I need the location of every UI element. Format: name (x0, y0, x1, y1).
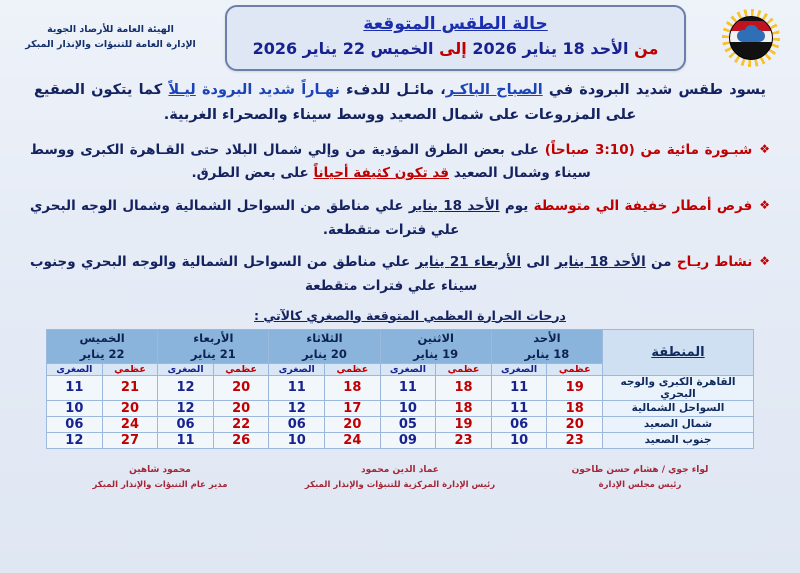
subheader-max-1: عظمي (436, 363, 492, 375)
row-1-day-1-min: 10 (380, 400, 436, 416)
row-0-day-3-min: 12 (158, 375, 214, 400)
day-1-name: الاثنين (381, 330, 491, 347)
temperature-table: المنطقة الأحد 18 يناير الاثنين 19 يناير … (46, 329, 754, 449)
signature-1-role: رئيس الإدارة المركزية للتنبؤات والإنذار … (280, 478, 520, 492)
page-header: حالة الطقس المتوقعة من الأحد 18 يناير 20… (0, 0, 800, 70)
row-1-day-4-min: 10 (47, 400, 103, 416)
signature-0-role: رئيس مجلس الإدارة (520, 478, 760, 492)
bullet-1-seg-2: على بعض الطرق المؤدية من وإلي شمال البلا… (30, 142, 591, 182)
row-1-day-0-max: 18 (547, 400, 603, 416)
date-from: الأحد 18 يناير 2026 (472, 39, 628, 58)
bullet-text-rain: فرص أمطار خفيفة الي متوسطة يوم الأحد 18 … (30, 195, 752, 242)
page-footer: لواء جوي / هشام حسن طاحون رئيس مجلس الإد… (0, 449, 800, 493)
row-1-day-3-max: 20 (213, 400, 269, 416)
bullet-text-fog: شبـورة مائية من (3:10 صباحاً) على بعض ال… (30, 139, 752, 186)
table-header-row-days: المنطقة الأحد 18 يناير الاثنين 19 يناير … (47, 329, 754, 363)
row-3-day-1-max: 23 (436, 432, 492, 448)
row-1-day-2-max: 17 (325, 400, 381, 416)
bullet-3-seg-4: الى (526, 254, 549, 270)
list-item: ❖ نشاط ريـاح من الأحد 18 يناير الى الأرب… (30, 251, 770, 298)
row-0-day-1-max: 18 (436, 375, 492, 400)
org-line-1: الهيئة العامة للأرصاد الجوية (18, 23, 203, 38)
intro-seg-4: نهـاراً (301, 82, 340, 98)
row-0-region: القاهرة الكبرى والوجه البحري (603, 375, 754, 400)
day-4-name: الخميس (47, 330, 157, 347)
day-2-date: 20 يناير (269, 346, 379, 363)
row-1-day-2-min: 12 (269, 400, 325, 416)
column-header-day-3: الأربعاء 21 يناير (158, 329, 269, 363)
flag-band-black (730, 42, 772, 55)
row-1-day-0-min: 11 (491, 400, 547, 416)
bullet-3-seg-6: علي مناطق من السواحل الشمالية والوجه الب… (30, 254, 477, 294)
bullet-2-seg-1: فرص أمطار خفيفة الي متوسطة (534, 198, 753, 214)
row-3-day-0-max: 23 (547, 432, 603, 448)
row-3-day-1-min: 09 (380, 432, 436, 448)
row-3-day-2-min: 10 (269, 432, 325, 448)
row-3-day-0-min: 10 (491, 432, 547, 448)
temperature-table-wrapper: المنطقة الأحد 18 يناير الاثنين 19 يناير … (0, 329, 800, 449)
row-0-day-2-max: 18 (325, 375, 381, 400)
row-1-region: السواحل الشمالية (603, 400, 754, 416)
signature-0-name: لواء جوي / هشام حسن طاحون (520, 463, 760, 478)
row-3-day-3-min: 11 (158, 432, 214, 448)
row-0-day-3-max: 20 (213, 375, 269, 400)
bullet-1-seg-3: قد تكون كثيفة أحياناً (313, 165, 449, 181)
row-3-day-4-max: 27 (102, 432, 158, 448)
row-0-day-0-min: 11 (491, 375, 547, 400)
subheader-max-2: عظمي (325, 363, 381, 375)
row-2-day-3-max: 22 (213, 416, 269, 432)
row-2-day-0-min: 06 (491, 416, 547, 432)
signature-1-name: عماد الدين محمود (280, 463, 520, 478)
bullet-diamond-icon: ❖ (759, 139, 770, 159)
table-row: شمال الصعيد 20 06 19 05 20 06 22 06 24 0… (47, 416, 754, 432)
row-0-day-4-min: 11 (47, 375, 103, 400)
title-box: حالة الطقس المتوقعة من الأحد 18 يناير 20… (225, 5, 687, 71)
page-title: حالة الطقس المتوقعة (253, 13, 659, 37)
subheader-min-3: الصغرى (158, 363, 214, 375)
row-2-region: شمال الصعيد (603, 416, 754, 432)
intro-seg-3: ، مائـل للدفء (346, 82, 446, 98)
signature-2-name: محمود شاهين (40, 463, 280, 478)
bullet-3-seg-1: نشاط ريـاح (677, 254, 752, 270)
row-1-day-4-max: 20 (102, 400, 158, 416)
signature-general-manager: محمود شاهين مدير عام التنبؤات والإنذار ا… (40, 463, 280, 493)
bullet-3-seg-3: الأحد 18 يناير (555, 254, 646, 270)
day-3-date: 21 يناير (158, 346, 268, 363)
subheader-min-0: الصغرى (491, 363, 547, 375)
day-0-name: الأحد (492, 330, 602, 347)
egypt-meteorological-authority-logo-icon (720, 10, 782, 66)
table-row: السواحل الشمالية 18 11 18 10 17 12 20 12… (47, 400, 754, 416)
day-4-date: 22 يناير (47, 346, 157, 363)
bullet-diamond-icon: ❖ (759, 195, 770, 215)
logo-disc (729, 16, 773, 60)
forecast-bullet-list: ❖ شبـورة مائية من (3:10 صباحاً) على بعض … (30, 139, 770, 299)
bullet-2-seg-4: علي مناطق من السواحل الشمالية وشمال الوج… (30, 198, 459, 238)
list-item: ❖ شبـورة مائية من (3:10 صباحاً) على بعض … (30, 139, 770, 186)
column-header-day-2: الثلاثاء 20 يناير (269, 329, 380, 363)
day-1-date: 19 يناير (381, 346, 491, 363)
signature-2-role: مدير عام التنبؤات والإنذار المبكر (40, 478, 280, 492)
row-3-day-3-max: 26 (213, 432, 269, 448)
row-2-day-2-max: 20 (325, 416, 381, 432)
row-0-day-2-min: 11 (269, 375, 325, 400)
forecast-date-range: من الأحد 18 يناير 2026 إلى الخميس 22 ينا… (253, 37, 659, 61)
intro-paragraph: يسود طقس شديد البرودة في الصباح الباكـر،… (34, 78, 766, 129)
bullet-1-seg-1: شبـورة مائية من (3:10 صباحاً) (545, 142, 753, 158)
subheader-min-1: الصغرى (380, 363, 436, 375)
intro-seg-2: الصباح الباكـر (446, 82, 543, 98)
row-2-day-2-min: 06 (269, 416, 325, 432)
row-2-day-4-min: 06 (47, 416, 103, 432)
row-2-day-1-min: 05 (380, 416, 436, 432)
bullet-3-seg-2: من (651, 254, 672, 270)
org-line-2: الإدارة العامة للتنبؤات والإنذار المبكر (18, 38, 203, 53)
bullet-3-seg-5: الأربعاء 21 يناير (415, 254, 521, 270)
list-item: ❖ فرص أمطار خفيفة الي متوسطة يوم الأحد 1… (30, 195, 770, 242)
signature-central-head: عماد الدين محمود رئيس الإدارة المركزية ل… (280, 463, 520, 493)
bullet-1-seg-4: على بعض الطرق. (191, 165, 308, 181)
day-3-name: الأربعاء (158, 330, 268, 347)
temperature-table-body: القاهرة الكبرى والوجه البحري 19 11 18 11… (47, 375, 754, 448)
column-header-region: المنطقة (603, 329, 754, 375)
row-3-region: جنوب الصعيد (603, 432, 754, 448)
column-header-day-0: الأحد 18 يناير (491, 329, 602, 363)
row-1-day-3-min: 12 (158, 400, 214, 416)
subheader-max-3: عظمي (213, 363, 269, 375)
row-0-day-1-min: 11 (380, 375, 436, 400)
table-intro-text: درجات الحرارة العظمي المتوقعة والصغري كا… (0, 308, 800, 323)
day-0-date: 18 يناير (492, 346, 602, 363)
table-row: جنوب الصعيد 23 10 23 09 24 10 26 11 27 1… (47, 432, 754, 448)
date-to-word: إلى (439, 39, 467, 58)
subheader-min-4: الصغرى (47, 363, 103, 375)
cloud-icon (737, 30, 765, 42)
row-2-day-1-max: 19 (436, 416, 492, 432)
row-2-day-0-max: 20 (547, 416, 603, 432)
intro-seg-5: شديد البرودة (202, 82, 295, 98)
row-3-day-2-max: 24 (325, 432, 381, 448)
subheader-max-0: عظمي (547, 363, 603, 375)
intro-seg-1: يسود طقس شديد البرودة في (549, 82, 766, 98)
row-1-day-1-max: 18 (436, 400, 492, 416)
weather-forecast-page: حالة الطقس المتوقعة من الأحد 18 يناير 20… (0, 0, 800, 573)
bullet-text-wind: نشاط ريـاح من الأحد 18 يناير الى الأربعا… (30, 251, 752, 298)
column-header-day-1: الاثنين 19 يناير (380, 329, 491, 363)
column-header-day-4: الخميس 22 يناير (47, 329, 158, 363)
date-from-word: من (634, 39, 658, 58)
organization-name: الهيئة العامة للأرصاد الجوية الإدارة الع… (18, 23, 203, 52)
table-row: القاهرة الكبرى والوجه البحري 19 11 18 11… (47, 375, 754, 400)
row-2-day-3-min: 06 (158, 416, 214, 432)
intro-seg-6: ليـلاً (168, 82, 195, 98)
row-0-day-0-max: 19 (547, 375, 603, 400)
bullet-diamond-icon: ❖ (759, 251, 770, 271)
bullet-2-seg-2: يوم (505, 198, 528, 214)
row-3-day-4-min: 12 (47, 432, 103, 448)
row-2-day-4-max: 24 (102, 416, 158, 432)
subheader-max-4: عظمي (102, 363, 158, 375)
day-2-name: الثلاثاء (269, 330, 379, 347)
row-0-day-4-max: 21 (102, 375, 158, 400)
subheader-min-2: الصغرى (269, 363, 325, 375)
signature-chairman: لواء جوي / هشام حسن طاحون رئيس مجلس الإد… (520, 463, 760, 493)
bullet-2-seg-3: الأحد 18 يناير (409, 198, 500, 214)
date-to: الخميس 22 يناير 2026 (253, 39, 434, 58)
